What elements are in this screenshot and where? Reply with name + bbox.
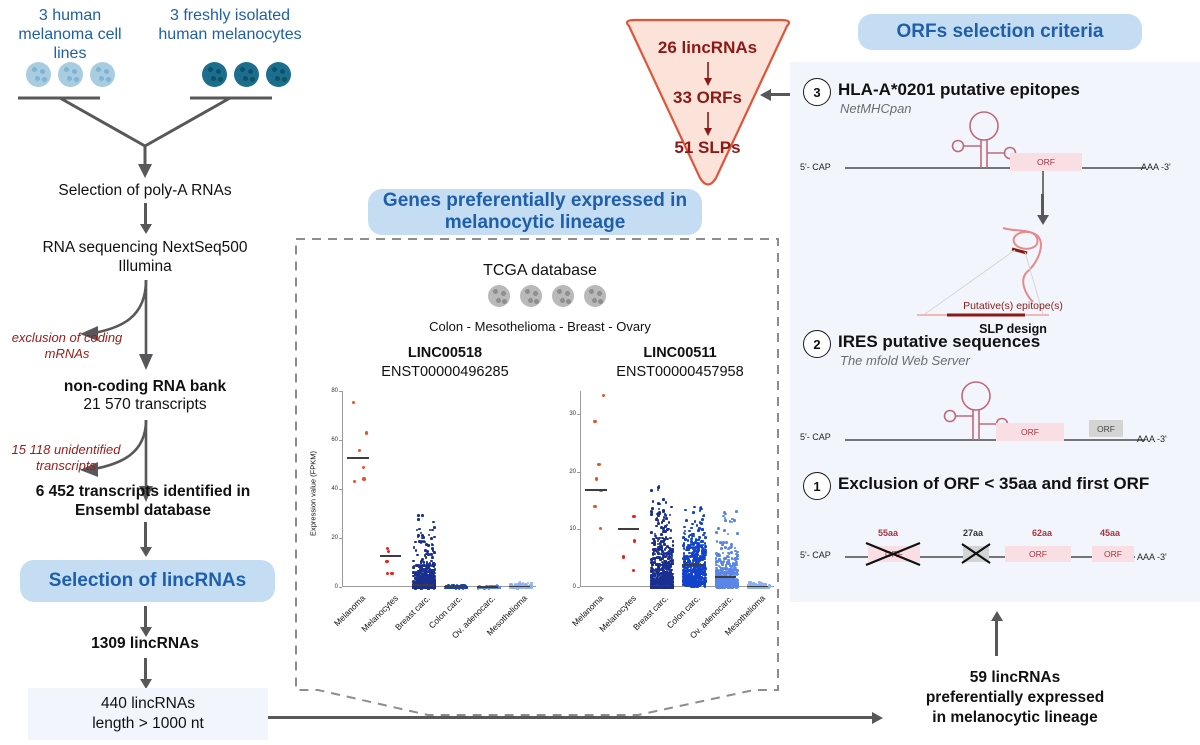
scatter-point [684,582,687,585]
tcga-tissue-list: Colon - Mesothelioma - Breast - Ovary [330,319,750,334]
scatter-point [687,585,690,588]
scatter-point [685,519,688,522]
scatter-point [685,557,688,560]
y-axis-tick [577,587,580,588]
scatter-point [632,515,635,518]
step-2-orf-box-1: ORF [996,423,1064,441]
scatter-point [657,546,660,549]
scatter-point [421,537,424,540]
scatter-point [699,577,702,580]
scatter-point [602,394,605,397]
scatter-point [723,571,726,574]
plot-1-subtitle: ENST00000496285 [340,364,550,380]
scatter-point [387,550,390,553]
scatter-point [731,521,734,524]
y-axis-tick [577,414,580,415]
arrow-to-slp-design [1041,194,1044,216]
scatter-point [672,544,675,547]
scatter-point [650,510,653,513]
triangle-slps-count: 51 SLPs [615,138,800,158]
arrow-to-rna-seq [144,203,147,225]
y-axis-label: Expression value (FPKM) [309,429,318,559]
step-1-orf-box-4: ORF [1092,546,1134,562]
scatter-point [725,541,728,544]
y-axis-tick [339,489,342,490]
scatter-point [669,514,672,517]
scatter-point [390,572,393,575]
cell-cluster-icon [520,285,542,307]
scatter-point [665,566,668,569]
y-axis [342,391,343,587]
scatter-point [735,572,738,575]
scatter-point [412,560,415,563]
scatter-point [662,519,665,522]
scatter-point [599,527,602,530]
scatter-point [424,568,427,571]
tcga-cell-icons [488,285,606,307]
mean-line [682,564,703,566]
y-axis-tick-label: 60 [331,437,338,443]
x-axis [342,586,536,587]
scatter-point [716,540,719,543]
scatter-point [666,545,669,548]
scatter-point [686,575,689,578]
scatter-point [694,578,697,581]
step-1-strike-1 [864,541,924,567]
scatter-point [682,544,685,547]
cell-cluster-icon [488,285,510,307]
banner-selection-lincrnas: Selection of lincRNAs [20,560,275,602]
scatter-point [650,531,653,534]
scatter-point [655,525,658,528]
scatter-point [432,521,435,524]
scatter-point [415,549,418,552]
scatter-point [425,565,428,568]
result-line-2: preferentially expressed [900,688,1130,708]
scatter-point [724,519,727,522]
scatter-point [651,507,654,510]
scatter-point [632,569,635,572]
y-axis-tick-label: 30 [569,411,576,417]
arrow-to-440 [144,658,147,680]
y-axis-tick [339,538,342,539]
scatter-point [362,477,365,480]
scatter-point [657,489,660,492]
cell-cluster-icon [26,62,51,87]
scatter-point [665,501,668,504]
box-440-lincrnas: 440 lincRNAs length > 1000 nt [28,688,268,740]
scatter-point [358,449,361,452]
step-2-cap-right: AAA -3' [1137,434,1167,444]
step-1-title: Exclusion of ORF < 35aa and first ORF [838,474,1149,494]
scatter-point [722,552,725,555]
scatter-point [417,518,420,521]
scatter-point [723,586,726,589]
scatter-point [694,520,697,523]
scatter-point [662,509,665,512]
mean-line [380,555,401,557]
scatter-point [652,554,655,557]
scatter-point [659,543,662,546]
x-axis [580,586,774,587]
scatter-point [433,536,436,539]
result-line-3: in melanocytic lineage [900,708,1130,728]
cell-cluster-icon [202,62,227,87]
step-1-number: 1 [803,472,831,500]
y-axis-tick-label: 10 [569,526,576,532]
scatter-point [697,529,700,532]
step-1-aa-label-2: 27aa [963,528,983,538]
scatter-point [657,556,660,559]
scatter-plot-linc00511: 0102030MelanomaMelanocytesBreast carc.Co… [538,385,778,615]
scatter-point [726,585,729,588]
scatter-point [691,553,694,556]
mean-line [715,576,736,578]
slp-design-schematic [915,222,1165,337]
scatter-point [427,544,430,547]
source-left-label: 3 human melanoma cell lines [8,6,132,64]
triangle-orfs-count: 33 ORFs [615,88,800,108]
triangle-lincrnas-count: 26 lincRNAs [615,38,800,58]
scatter-point [652,500,655,503]
scatter-point [723,529,726,532]
step-1-orf-box-3: ORF [1005,546,1071,562]
scatter-point [385,560,388,563]
scatter-point [593,505,596,508]
arrow-lincrnas-to-result [268,716,873,719]
scatter-point [526,587,529,590]
scatter-point [662,527,665,530]
scatter-point [684,530,687,533]
scatter-point [595,477,598,480]
scatter-point [696,586,699,589]
scatter-point [665,552,668,555]
scatter-point [661,586,664,589]
scatter-point [683,526,686,529]
mean-line [477,586,498,588]
y-axis-tick [339,440,342,441]
scatter-point [431,556,434,559]
scatter-point [726,562,729,565]
scatter-point [667,576,670,579]
step-2-title: IRES putative sequences [838,332,1040,352]
scatter-point [597,463,600,466]
result-line-1: 59 lincRNAs [900,668,1130,688]
mean-line [509,586,530,588]
step-3-number: 3 [803,78,831,106]
scatter-point [717,527,720,530]
scatter-point [693,506,696,509]
scatter-point [736,532,739,535]
scatter-point [431,529,434,532]
arrow-to-lincrna-banner [144,522,147,548]
plot-2-title: LINC00511 [585,345,775,361]
scatter-point [353,480,356,483]
scatter-point [687,539,690,542]
step-3-title: HLA-A*0201 putative epitopes [838,80,1080,100]
scatter-point [704,585,707,588]
scatter-point [420,587,423,590]
scatter-point [664,548,667,551]
y-axis-tick [339,391,342,392]
scatter-point [633,539,636,542]
scatter-point [733,519,736,522]
scatter-point [658,485,661,488]
scatter-point [665,536,668,539]
melanocyte-cell-icons [202,62,291,87]
scatter-point [352,401,355,404]
scatter-point [432,549,435,552]
scatter-point [730,551,733,554]
step-noncoding-rna-bank: non-coding RNA bank [20,378,270,396]
y-axis-tick-label: 20 [569,469,576,475]
scatter-point [660,533,663,536]
scatter-point [723,557,726,560]
scatter-point [650,513,653,516]
y-axis-tick-label: 40 [331,486,338,492]
step-1309-lincrnas: 1309 lincRNAs [20,635,270,653]
scatter-point [654,553,657,556]
arrow-to-1309 [144,606,147,628]
cell-cluster-icon [552,285,574,307]
source-merge-connector [0,90,290,180]
step-3-cap-left: 5'- CAP [800,162,831,172]
scatter-point [531,587,534,590]
scatter-point [654,587,657,590]
scatter-point [662,530,665,533]
step-2-orf-box-2: ORF [1089,420,1123,437]
scatter-point [657,522,660,525]
step-1-strike-2 [960,542,994,566]
scatter-point [650,489,653,492]
scatter-point [688,565,691,568]
scatter-point [669,537,672,540]
mean-line [444,586,465,588]
scatter-point [684,509,687,512]
scatter-point [704,536,707,539]
scatter-point [701,528,704,531]
scatter-point [685,549,688,552]
scatter-point [701,518,704,521]
scatter-point [703,514,706,517]
scatter-point [386,572,389,575]
scatter-point [417,514,420,517]
scatter-point [694,549,697,552]
scatter-plot-linc00518: 020406080Expression value (FPKM)Melanoma… [300,385,540,615]
y-axis [580,391,581,587]
scatter-point [682,572,685,575]
scatter-point [421,514,424,517]
scatter-point [670,506,673,509]
scatter-point [720,547,723,550]
scatter-point [658,508,661,511]
scatter-point [413,565,416,568]
note-unidentified-transcripts: 15 118 unidentified transcripts [0,442,132,473]
step-1-aa-label-4: 45aa [1100,528,1120,538]
triangle-arrow-2 [701,112,715,138]
cell-cluster-icon [90,62,115,87]
step-ensembl-transcripts: 6 452 transcripts identified in Ensembl … [4,482,282,521]
mean-line [618,528,639,530]
putative-epitopes-label: Putative(s) epitope(s) [923,300,1103,312]
scatter-point [665,517,668,520]
step-2-subtitle: The mfold Web Server [840,353,970,368]
banner-genes-preferentially-expressed: Genes preferentially expressed in melano… [368,189,702,235]
scatter-point [622,555,625,558]
scatter-point [736,586,739,589]
scatter-point [593,420,596,423]
scatter-point [659,512,662,515]
cell-cluster-icon [234,62,259,87]
scatter-point [688,530,691,533]
scatter-point [658,503,661,506]
step-noncoding-rna-count: 21 570 transcripts [20,396,270,414]
scatter-point [663,543,666,546]
cell-cluster-icon [584,285,606,307]
y-axis-tick-label: 0 [573,584,576,590]
scatter-point [728,556,731,559]
scatter-point [418,528,421,531]
scatter-point [428,534,431,537]
scatter-point [670,529,673,532]
scatter-point [667,557,670,560]
summary-triangle: 26 lincRNAs 33 ORFs 51 SLPs [615,18,800,193]
scatter-point [414,541,417,544]
plot-1-title: LINC00518 [350,345,540,361]
scatter-point [656,517,659,520]
scatter-point [723,511,726,514]
scatter-point [735,510,738,513]
y-axis-tick-label: 80 [331,388,338,394]
scatter-point [671,554,674,557]
mean-line [747,586,768,588]
scatter-point [659,564,662,567]
scatter-point [365,431,368,434]
scatter-point [651,563,654,566]
y-axis-tick [339,587,342,588]
scatter-point [424,549,427,552]
y-axis-tick-label: 0 [335,584,338,590]
mean-line [585,489,606,491]
scatter-point [427,553,430,556]
scatter-point [730,543,733,546]
y-axis-tick [577,472,580,473]
cell-cluster-icon [58,62,83,87]
scatter-point [692,511,695,514]
scatter-point [362,466,365,469]
scatter-point [715,531,718,534]
scatter-point [700,572,703,575]
source-right-label: 3 freshly isolated human melanocytes [150,6,310,44]
step-2-number: 2 [803,330,831,358]
scatter-point [703,573,706,576]
scatter-point [670,586,673,589]
scatter-point [694,541,697,544]
tcga-database-title: TCGA database [330,262,750,280]
scatter-point [690,527,693,530]
step-1-aa-label-1: 55aa [878,528,898,538]
scatter-point [661,521,664,524]
arrow-result-to-panel [995,620,998,656]
step-3-orf-box: ORF [1010,153,1082,171]
scatter-point [691,523,694,526]
scatter-point [734,547,737,550]
scatter-point [421,568,424,571]
scatter-point [734,558,737,561]
scatter-point [691,585,694,588]
cell-cluster-icon [266,62,291,87]
scatter-point [696,582,699,585]
step-3-cap-right: AAA -3' [1141,162,1171,172]
step-1-cap-left: 5'- CAP [800,550,831,560]
scatter-point [417,535,420,538]
step-3-rna-schematic [795,108,1195,198]
scatter-point [722,541,725,544]
box-440-line1: 440 lincRNAs [101,694,195,714]
scatter-point [420,542,423,545]
plot-2-subtitle: ENST00000457958 [575,364,785,380]
scatter-point [664,561,667,564]
scatter-point [416,554,419,557]
scatter-point [671,569,674,572]
scatter-point [729,546,732,549]
triangle-arrow-1 [701,62,715,88]
banner-orfs-selection-criteria: ORFs selection criteria [858,14,1142,50]
note-exclusion-coding-mrnas: exclusion of coding mRNAs [2,330,132,361]
scatter-point [684,533,687,536]
scatter-point [519,587,522,590]
step-1-aa-label-3: 62aa [1032,528,1052,538]
scatter-point [656,551,659,554]
melanoma-cell-icons [26,62,115,87]
scatter-point [727,533,730,536]
scatter-point [731,585,734,588]
scatter-point [430,537,433,540]
y-axis-tick-label: 20 [331,535,338,541]
mean-line [412,584,433,586]
scatter-point [672,540,675,543]
y-axis-tick [577,529,580,530]
step-poly-a-selection: Selection of poly-A RNAs [20,182,270,200]
scatter-point [693,535,696,538]
result-box: 59 lincRNAs preferentially expressed in … [900,668,1130,727]
mean-line [347,457,368,459]
box-440-line2: length > 1000 nt [92,714,204,734]
step-2-cap-left: 5'- CAP [800,432,831,442]
scatter-point [682,536,685,539]
scatter-point [668,521,671,524]
scatter-point [693,566,696,569]
step-rna-sequencing: RNA sequencing NextSeq500 Illumina [30,238,260,277]
mean-line [650,585,671,587]
scatter-point [423,587,426,590]
step-2-rna-schematic [795,372,1195,462]
